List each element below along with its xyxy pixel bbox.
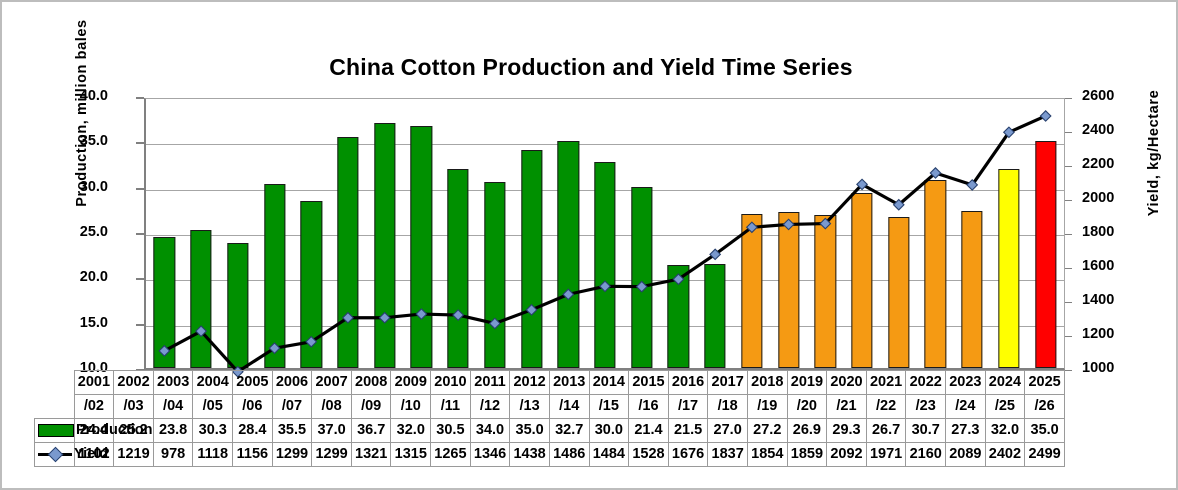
table-cell-yield: 1315 <box>391 443 431 467</box>
y-axis-left-tick-mark <box>136 324 144 326</box>
x-axis-label-year-top: 2007 <box>312 371 352 395</box>
data-table: 2001200220032004200520062007200820092010… <box>34 370 1065 467</box>
table-cell-production: 32.0 <box>391 419 431 443</box>
x-axis-label-year-top: 2024 <box>985 371 1025 395</box>
y-axis-right-tick-label: 1400 <box>1082 292 1144 308</box>
table-cell-yield: 1102 <box>74 443 114 467</box>
table-cell-yield: 1219 <box>114 443 154 467</box>
table-cell-yield: 1854 <box>747 443 787 467</box>
y-axis-right-tick-label: 2000 <box>1082 190 1144 206</box>
page-title: China Cotton Production and Yield Time S… <box>2 54 1178 81</box>
y-axis-right-tick-mark <box>1065 336 1072 337</box>
table-cell-production: 27.2 <box>747 419 787 443</box>
table-cell-production: 32.0 <box>985 419 1025 443</box>
table-row-year-bottom: /02/03/04/05/06/07/08/09/10/11/12/13/14/… <box>35 395 1065 419</box>
x-axis-label-year-bottom: /12 <box>470 395 510 419</box>
table-cell-production: 26.9 <box>787 419 827 443</box>
x-axis-label-year-bottom: /06 <box>233 395 273 419</box>
blue-diamond-line-swatch-icon <box>38 448 72 460</box>
table-cell-yield: 1321 <box>351 443 391 467</box>
x-axis-label-year-top: 2006 <box>272 371 312 395</box>
x-axis-label-year-bottom: /22 <box>866 395 906 419</box>
table-cell-production: 21.4 <box>629 419 669 443</box>
table-cell-production: 34.0 <box>470 419 510 443</box>
table-cell-production: 24.4 <box>74 419 114 443</box>
table-cell-yield: 1484 <box>589 443 629 467</box>
x-axis-label-year-top: 2023 <box>946 371 986 395</box>
x-axis-label-year-top: 2014 <box>589 371 629 395</box>
y-axis-left-tick-label: 25.0 <box>48 224 108 240</box>
x-axis-label-year-bottom: /07 <box>272 395 312 419</box>
y-axis-left-tick-label: 40.0 <box>48 88 108 104</box>
x-axis-label-year-bottom: /04 <box>153 395 193 419</box>
x-axis-label-year-top: 2001 <box>74 371 114 395</box>
table-cell-production: 30.5 <box>431 419 471 443</box>
table-cell-yield: 1859 <box>787 443 827 467</box>
table-cell-yield: 1837 <box>708 443 748 467</box>
legend-production: Production <box>35 419 75 443</box>
table-cell-production: 37.0 <box>312 419 352 443</box>
x-axis-label-year-top: 2017 <box>708 371 748 395</box>
y-axis-right-tick-label: 1600 <box>1082 258 1144 274</box>
x-axis-label-year-bottom: /19 <box>747 395 787 419</box>
x-axis-label-year-top: 2004 <box>193 371 233 395</box>
yield-line <box>164 116 1045 372</box>
y-axis-left-tick-mark <box>136 188 144 190</box>
table-cell-yield: 1528 <box>629 443 669 467</box>
x-axis-label-year-bottom: /15 <box>589 395 629 419</box>
y-axis-left-tick-label: 35.0 <box>48 133 108 149</box>
y-axis-left-tick-mark <box>136 97 144 99</box>
x-axis-label-year-top: 2015 <box>629 371 669 395</box>
table-cell-yield: 2499 <box>1025 443 1065 467</box>
x-axis-label-year-top: 2025 <box>1025 371 1065 395</box>
x-axis-label-year-top: 2022 <box>906 371 946 395</box>
y-axis-right-tick-mark <box>1065 200 1072 201</box>
y-axis-right-tick-label: 1000 <box>1082 360 1144 376</box>
table-cell-production: 36.7 <box>351 419 391 443</box>
yield-marker-2012[interactable] <box>563 289 573 299</box>
yield-marker-2025[interactable] <box>1040 111 1050 121</box>
y-axis-right-tick-label: 2200 <box>1082 156 1144 172</box>
table-cell-yield: 1486 <box>549 443 589 467</box>
table-cell-yield: 1438 <box>510 443 550 467</box>
x-axis-label-year-bottom: /14 <box>549 395 589 419</box>
y-axis-right-title: Yield, kg/Hectare <box>1146 38 1168 268</box>
x-axis-label-year-bottom: /17 <box>668 395 708 419</box>
y-axis-right-tick-label: 2400 <box>1082 122 1144 138</box>
yield-marker-2018[interactable] <box>783 219 793 229</box>
table-cell-yield: 2402 <box>985 443 1025 467</box>
x-axis-label-year-top: 2021 <box>866 371 906 395</box>
x-axis-label-year-bottom: /08 <box>312 395 352 419</box>
table-cell-yield: 1676 <box>668 443 708 467</box>
legend-yield: Yield <box>35 443 75 467</box>
x-axis-label-year-top: 2011 <box>470 371 510 395</box>
table-cell-production: 32.7 <box>549 419 589 443</box>
x-axis-label-year-bottom: /13 <box>510 395 550 419</box>
x-axis-label-year-top: 2016 <box>668 371 708 395</box>
x-axis-label-year-bottom: /24 <box>946 395 986 419</box>
y-axis-right-tick-label: 1200 <box>1082 326 1144 342</box>
table-cell-yield: 1299 <box>312 443 352 467</box>
table-cell-yield: 1265 <box>431 443 471 467</box>
x-axis-label-year-top: 2020 <box>827 371 867 395</box>
x-axis-label-year-bottom: /05 <box>193 395 233 419</box>
y-axis-right-tick-mark <box>1065 370 1072 371</box>
yield-marker-2008[interactable] <box>416 309 426 319</box>
table-cell-production: 35.0 <box>510 419 550 443</box>
y-axis-right-tick-mark <box>1065 98 1072 99</box>
x-axis-label-year-bottom: /03 <box>114 395 154 419</box>
table-cell-production: 30.0 <box>589 419 629 443</box>
yield-marker-2009[interactable] <box>453 310 463 320</box>
y-axis-right-tick-label: 1800 <box>1082 224 1144 240</box>
table-cell-yield: 1156 <box>233 443 273 467</box>
y-axis-left-tick-mark <box>136 142 144 144</box>
table-cell-yield: 2089 <box>946 443 986 467</box>
y-axis-right-tick-mark <box>1065 166 1072 167</box>
x-axis-label-year-top: 2010 <box>431 371 471 395</box>
x-axis-label-year-bottom: /23 <box>906 395 946 419</box>
chart-figure: China Cotton Production and Yield Time S… <box>0 0 1178 490</box>
y-axis-right-tick-mark <box>1065 302 1072 303</box>
table-row-production: Production 24.425.223.830.328.435.537.03… <box>35 419 1065 443</box>
table-cell-yield: 2160 <box>906 443 946 467</box>
yield-marker-2014[interactable] <box>637 281 647 291</box>
y-axis-left-title: Production, million bales <box>74 0 96 248</box>
table-cell-yield: 1971 <box>866 443 906 467</box>
x-axis-label-year-bottom: /26 <box>1025 395 1065 419</box>
yield-marker-2007[interactable] <box>379 313 389 323</box>
x-axis-label-year-bottom: /09 <box>351 395 391 419</box>
x-axis-label-year-top: 2018 <box>747 371 787 395</box>
y-axis-left-tick-mark <box>136 233 144 235</box>
line-series-yield <box>146 99 1064 368</box>
x-axis-label-year-top: 2019 <box>787 371 827 395</box>
x-axis-label-year-bottom: /18 <box>708 395 748 419</box>
x-axis-label-year-top: 2008 <box>351 371 391 395</box>
table-row-yield: Yield 1102121997811181156129912991321131… <box>35 443 1065 467</box>
yield-marker-2010[interactable] <box>490 318 500 328</box>
x-axis-label-year-bottom: /10 <box>391 395 431 419</box>
table-cell-production: 27.3 <box>946 419 986 443</box>
table-cell-production: 25.2 <box>114 419 154 443</box>
y-axis-right-tick-label: 2600 <box>1082 88 1144 104</box>
table-cell-yield: 1346 <box>470 443 510 467</box>
y-axis-left-tick-mark <box>136 278 144 280</box>
table-cell-production: 26.7 <box>866 419 906 443</box>
x-axis-label-year-bottom: /20 <box>787 395 827 419</box>
x-axis-label-year-bottom: /16 <box>629 395 669 419</box>
y-axis-right-tick-mark <box>1065 268 1072 269</box>
x-axis-label-year-top: 2012 <box>510 371 550 395</box>
table-cell-production: 23.8 <box>153 419 193 443</box>
x-axis-label-year-top: 2009 <box>391 371 431 395</box>
table-cell-production: 21.5 <box>668 419 708 443</box>
table-cell-production: 35.0 <box>1025 419 1065 443</box>
green-rectangle-swatch-icon <box>38 424 74 437</box>
table-cell-production: 30.3 <box>193 419 233 443</box>
x-axis-label-year-top: 2013 <box>549 371 589 395</box>
y-axis-right-tick-mark <box>1065 132 1072 133</box>
table-cell-yield: 978 <box>153 443 193 467</box>
table-cell-production: 35.5 <box>272 419 312 443</box>
x-axis-label-year-top: 2003 <box>153 371 193 395</box>
plot-area <box>144 98 1065 370</box>
table-cell-production: 28.4 <box>233 419 273 443</box>
table-cell-production: 27.0 <box>708 419 748 443</box>
table-corner-cell-2 <box>35 395 75 419</box>
table-cell-yield: 2092 <box>827 443 867 467</box>
x-axis-label-year-top: 2002 <box>114 371 154 395</box>
y-axis-right-tick-mark <box>1065 234 1072 235</box>
y-axis-left-tick-label: 30.0 <box>48 179 108 195</box>
table-cell-yield: 1118 <box>193 443 233 467</box>
table-corner-cell <box>35 371 75 395</box>
y-axis-left-tick-label: 20.0 <box>48 269 108 285</box>
x-axis-label-year-bottom: /25 <box>985 395 1025 419</box>
x-axis-label-year-bottom: /02 <box>74 395 114 419</box>
table-cell-production: 30.7 <box>906 419 946 443</box>
table-cell-yield: 1299 <box>272 443 312 467</box>
x-axis-label-year-top: 2005 <box>233 371 273 395</box>
table-row-year-top: 2001200220032004200520062007200820092010… <box>35 371 1065 395</box>
yield-marker-2013[interactable] <box>600 281 610 291</box>
yield-marker-2011[interactable] <box>526 305 536 315</box>
y-axis-left-tick-label: 15.0 <box>48 315 108 331</box>
x-axis-label-year-bottom: /11 <box>431 395 471 419</box>
x-axis-label-year-bottom: /21 <box>827 395 867 419</box>
table-cell-production: 29.3 <box>827 419 867 443</box>
